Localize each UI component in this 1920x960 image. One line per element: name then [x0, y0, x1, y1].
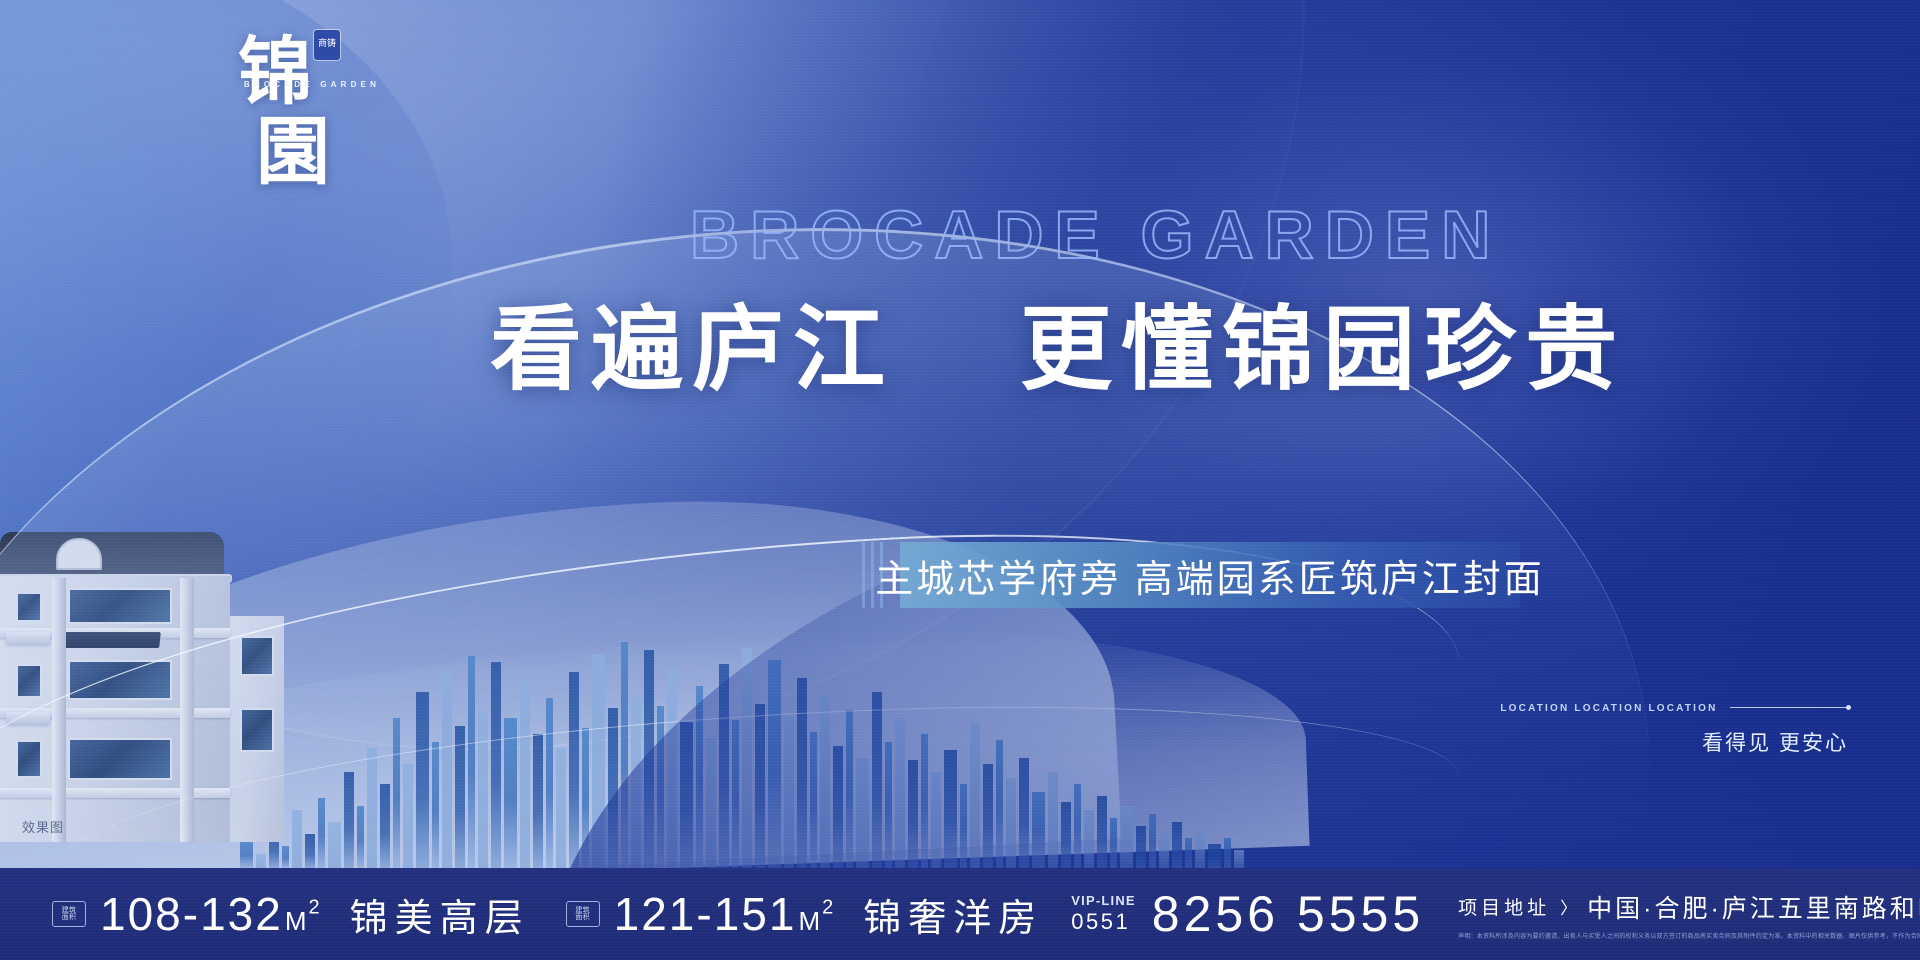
vip-phone-number[interactable]: 8256 5555: [1152, 885, 1424, 943]
footer-area-value: 121-151: [614, 888, 797, 940]
logo-seal-icon: 商铸: [314, 30, 340, 60]
footer-area-value-wrap: 108-132M2: [100, 887, 322, 941]
footer-area-unit: M: [285, 906, 309, 936]
logo-char-bottom: 園: [256, 92, 330, 199]
brand-logo: 锦 商铸 BROCADE GARDEN 園: [232, 14, 392, 174]
hero-headline-right: 更懂锦园珍贵: [1020, 295, 1626, 403]
area-badge-line2: 面积: [62, 914, 77, 921]
footer-bar: 建筑 面积 108-132M2 锦美高层 建筑 面积 121-151M2 锦奢洋…: [0, 868, 1920, 960]
location-chinese: 看得见 更安心: [1500, 727, 1848, 757]
vip-area-code: 0551: [1071, 909, 1136, 934]
footer-spec-item: 建筑 面积 108-132M2 锦美高层: [52, 887, 530, 942]
footer-area-unit: M: [798, 906, 822, 936]
footer-area-sup: 2: [309, 897, 322, 919]
hero-headline: 看遍庐江 更懂锦园珍贵: [490, 275, 1626, 408]
footer-vip-line[interactable]: VIP-LINE 0551 8256 5555: [1071, 885, 1424, 943]
vip-label-group: VIP-LINE 0551: [1071, 894, 1136, 934]
hero-headline-left: 看遍庐江: [490, 295, 894, 403]
location-tagline-block: LOCATION LOCATION LOCATION 看得见 更安心: [1500, 700, 1848, 757]
area-badge-line2: 面积: [575, 914, 590, 921]
area-badge-icon: 建筑 面积: [566, 901, 600, 927]
location-english: LOCATION LOCATION LOCATION: [1500, 703, 1717, 714]
footer-address-block: 项目地址 〉 中国·合肥·庐江五里南路和临湖路交口 声明：本资料所涉及内容为要约…: [1458, 889, 1920, 940]
logo-seal-text: 商铸: [318, 40, 336, 49]
vip-label: VIP-LINE: [1071, 894, 1136, 909]
hero-outline-english: BROCADE GARDEN: [690, 196, 1501, 274]
location-rule-line: [1730, 707, 1848, 708]
chevron-right-icon: 〉: [1560, 894, 1577, 919]
address-disclaimer: 声明：本资料所涉及内容为要约邀请，出卖人与买受人之间的权利义务以双方签订的商品房…: [1458, 931, 1920, 940]
footer-spec-item: 建筑 面积 121-151M2 锦奢洋房: [566, 887, 1044, 942]
footer-area-sup: 2: [822, 897, 835, 919]
accent-stroke: [871, 542, 874, 608]
footer-product-name: 锦美高层: [350, 887, 530, 942]
logo-english: BROCADE GARDEN: [234, 80, 390, 89]
hero-subtitle-bar: 主城芯学府旁 高端园系匠筑庐江封面: [900, 542, 1520, 608]
address-label: 项目地址: [1458, 893, 1550, 920]
footer-product-name: 锦奢洋房: [863, 887, 1043, 942]
render-disclaimer-note: 效果图: [22, 817, 64, 836]
footer-area-value: 108-132: [100, 888, 283, 940]
hero-subtitle-text: 主城芯学府旁 高端园系匠筑庐江封面: [875, 548, 1545, 603]
poster-canvas: 效果图 锦 商铸 BROCADE GARDEN 園 BROCADE GARDEN…: [0, 0, 1920, 960]
footer-address-row: 项目地址 〉 中国·合肥·庐江五里南路和临湖路交口: [1458, 889, 1920, 925]
accent-stroke: [862, 542, 865, 608]
area-badge-icon: 建筑 面积: [52, 901, 86, 927]
address-value: 中国·合肥·庐江五里南路和临湖路交口: [1587, 889, 1920, 925]
footer-area-value-wrap: 121-151M2: [614, 887, 836, 941]
